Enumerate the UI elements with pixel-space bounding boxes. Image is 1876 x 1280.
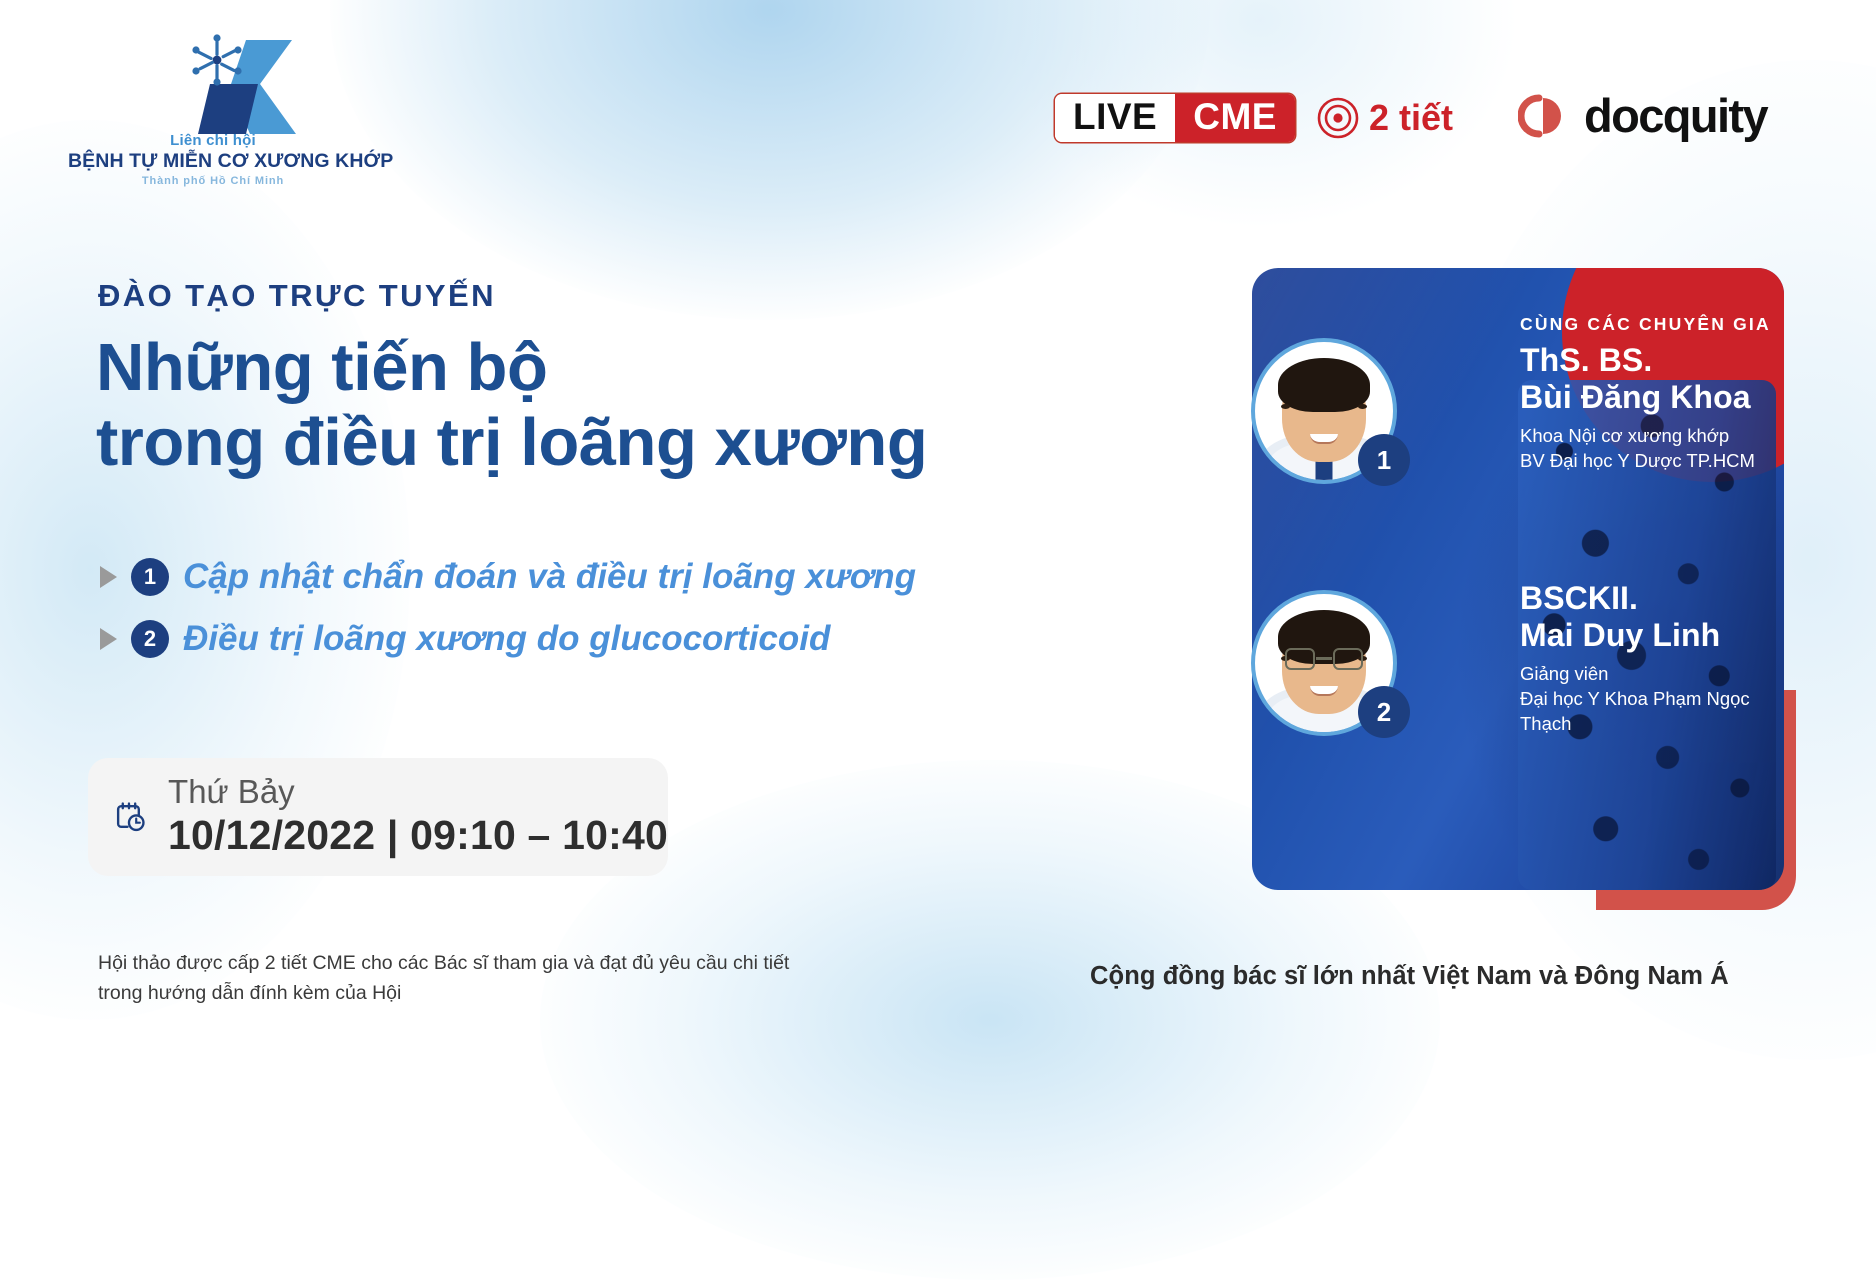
topic-number: 2 [131, 620, 169, 658]
schedule-card: Thứ Bảy 10/12/2022 | 09:10 – 10:40 [88, 758, 668, 876]
association-logo: Liên chi hội BỆNH TỰ MIỄN CƠ XƯƠNG KHỚP … [68, 26, 358, 187]
triangle-marker-icon [100, 628, 117, 650]
calendar-clock-icon [114, 786, 146, 848]
live-label: LIVE [1055, 94, 1175, 142]
association-line3: Thành phố Hồ Chí Minh [68, 175, 358, 187]
topic-number: 1 [131, 558, 169, 596]
topic-list: 1 Cập nhật chẩn đoán và điều trị loãng x… [100, 557, 1100, 681]
headline-line-2: trong điều trị loãng xương [96, 405, 1176, 480]
docquity-logo: docquity [1518, 92, 1767, 139]
cme-hours: 2 tiết [1317, 97, 1453, 139]
background-blob-top [330, 0, 1210, 320]
topic-item: 1 Cập nhật chẩn đoán và điều trị loãng x… [100, 557, 1100, 597]
association-line2: BỆNH TỰ MIỄN CƠ XƯƠNG KHỚP [68, 150, 358, 173]
topic-label: Điều trị loãng xương do glucocorticoid [183, 619, 830, 659]
speaker-kicker: CÙNG CÁC CHUYÊN GIA [1520, 314, 1771, 335]
cme-hours-label: 2 tiết [1369, 97, 1453, 139]
tagline-text: Cộng đồng bác sĩ lớn nhất Việt Nam và Đô… [1090, 962, 1729, 991]
speaker-title: BSCKII. [1520, 580, 1784, 617]
schedule-text: Thứ Bảy 10/12/2022 | 09:10 – 10:40 [168, 774, 668, 860]
snowflake-icon [185, 30, 249, 90]
docquity-mark-icon [1518, 94, 1570, 138]
disclaimer-text: Hội thảo được cấp 2 tiết CME cho các Bác… [98, 948, 789, 1008]
target-icon [1317, 97, 1359, 139]
speaker-role-line-2: Đại học Y Khoa Phạm Ngọc Thạch [1520, 687, 1784, 737]
speaker-name: Mai Duy Linh [1520, 617, 1784, 654]
association-line1: Liên chi hội [68, 132, 358, 149]
page-title: Những tiến bộ trong điều trị loãng xương [96, 330, 1176, 480]
cme-label: CME [1175, 94, 1295, 142]
speaker-role-line-2: BV Đại học Y Dược TP.HCM [1520, 449, 1771, 474]
disclaimer-line-1: Hội thảo được cấp 2 tiết CME cho các Bác… [98, 948, 789, 978]
chevron-dark-icon [196, 84, 262, 134]
live-cme-badge: LIVE CME [1055, 94, 1295, 142]
schedule-day: Thứ Bảy [168, 774, 668, 810]
speaker-badge-1: 1 [1358, 434, 1410, 486]
speaker-name: Bùi Đăng Khoa [1520, 379, 1771, 416]
speaker-role-line-1: Khoa Nội cơ xương khớp [1520, 424, 1771, 449]
eyebrow-text: ĐÀO TẠO TRỰC TUYẾN [98, 278, 496, 314]
cme-badge-group: LIVE CME 2 tiết [1055, 94, 1453, 142]
speaker-info-1: CÙNG CÁC CHUYÊN GIA ThS. BS. Bùi Đăng Kh… [1520, 314, 1771, 474]
speaker-badge-2: 2 [1358, 686, 1410, 738]
triangle-marker-icon [100, 566, 117, 588]
docquity-wordmark: docquity [1584, 92, 1767, 139]
topic-item: 2 Điều trị loãng xương do glucocorticoid [100, 619, 1100, 659]
disclaimer-line-2: trong hướng dẫn đính kèm của Hội [98, 978, 789, 1008]
schedule-datetime: 10/12/2022 | 09:10 – 10:40 [168, 810, 668, 860]
speaker-role-line-1: Giảng viên [1520, 662, 1784, 687]
speaker-title: ThS. BS. [1520, 342, 1771, 379]
association-logo-mark [68, 26, 358, 134]
headline-line-1: Những tiến bộ [96, 330, 547, 405]
speaker-info-2: BSCKII. Mai Duy Linh Giảng viên Đại học … [1520, 580, 1784, 737]
topic-label: Cập nhật chẩn đoán và điều trị loãng xươ… [183, 557, 916, 597]
